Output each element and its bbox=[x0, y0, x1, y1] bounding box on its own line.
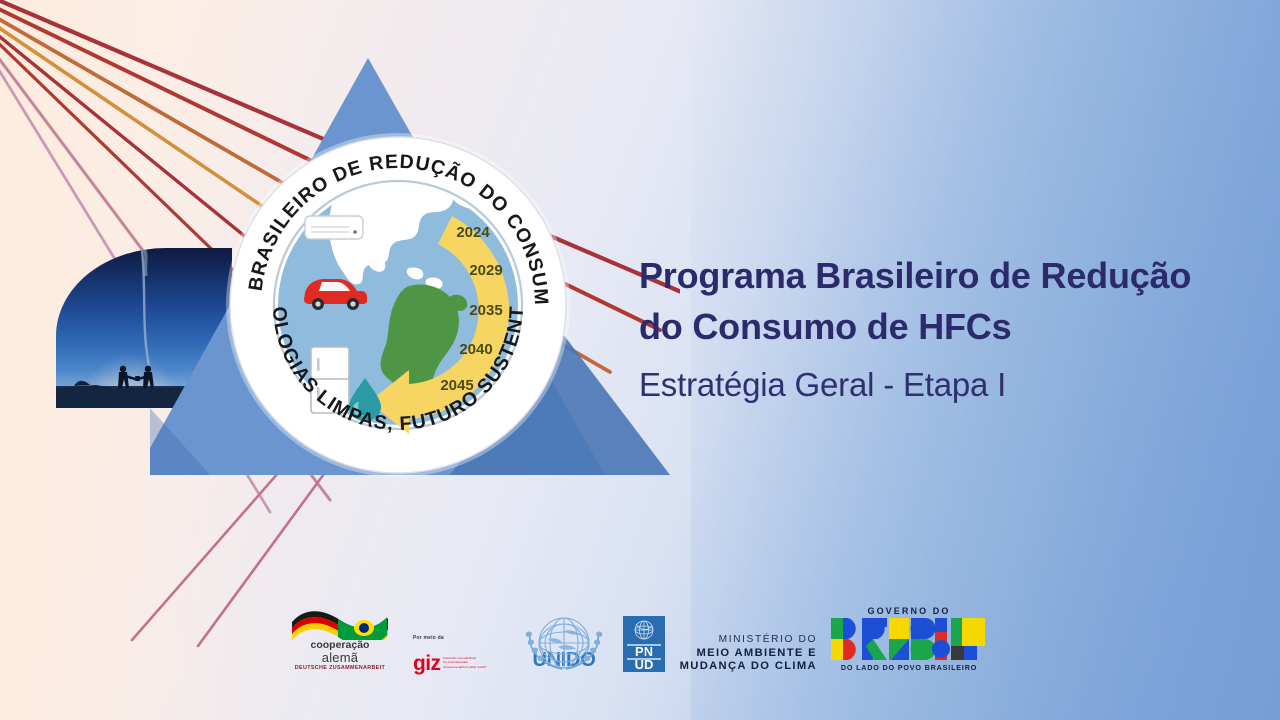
pnud-logo: PN UD bbox=[613, 616, 675, 672]
governo-do-brasil-logo: GOVERNO DO bbox=[825, 606, 993, 672]
year-label: 2040 bbox=[459, 341, 492, 358]
page-subtitle: Estratégia Geral - Etapa I bbox=[639, 366, 1239, 404]
giz-logo: Por meio da giz Deutsche Gesellschaft fü… bbox=[407, 635, 515, 672]
air-conditioner-icon bbox=[305, 216, 363, 239]
ministry-line-2: MEIO AMBIENTE E bbox=[696, 647, 817, 659]
unido-logo: UNIDO bbox=[515, 619, 613, 672]
pnud-emblem-icon: PN UD bbox=[623, 616, 665, 672]
gov-line-bottom: DO LADO DO POVO BRASILEIRO bbox=[841, 663, 977, 672]
german-cooperation-logo: cooperação alemã DEUTSCHE ZUSAMMENARBEIT bbox=[287, 606, 407, 672]
ministry-line-3: MUDANÇA DO CLIMA bbox=[680, 660, 817, 672]
coop-line-3: DEUTSCHE ZUSAMMENARBEIT bbox=[295, 666, 385, 672]
program-emblem: 2024 2029 2035 2040 2045 bbox=[223, 130, 573, 480]
german-brazil-flag-ribbon bbox=[288, 606, 392, 640]
page-title: Programa Brasileiro de Redução do Consum… bbox=[639, 250, 1239, 352]
year-label: 2035 bbox=[469, 302, 502, 319]
coop-line-2: alemã bbox=[295, 651, 385, 665]
slide-canvas: 2024 2029 2035 2040 2045 bbox=[0, 0, 1280, 720]
giz-wordmark: giz bbox=[413, 655, 440, 672]
gov-line-top: GOVERNO DO bbox=[867, 606, 950, 616]
title-block: Programa Brasileiro de Redução do Consum… bbox=[639, 250, 1239, 404]
title-line-2: do Consumo de HFCs bbox=[639, 301, 1239, 352]
partner-logo-strip: cooperação alemã DEUTSCHE ZUSAMMENARBEIT… bbox=[0, 606, 1280, 672]
giz-pre-label: Por meio da bbox=[413, 635, 444, 641]
ministry-environment-logo: MINISTÉRIO DO MEIO AMBIENTE E MUDANÇA DO… bbox=[675, 634, 825, 672]
un-laurel-emblem-icon bbox=[518, 613, 610, 673]
year-label: 2029 bbox=[469, 262, 502, 279]
year-label: 2024 bbox=[456, 224, 490, 241]
giz-sub-3: Zusammenarbeit (GIZ) GmbH bbox=[443, 665, 486, 670]
ministry-line-1: MINISTÉRIO DO bbox=[719, 634, 817, 645]
brasil-wordmark-blocks bbox=[831, 618, 987, 660]
title-line-1: Programa Brasileiro de Redução bbox=[639, 250, 1239, 301]
